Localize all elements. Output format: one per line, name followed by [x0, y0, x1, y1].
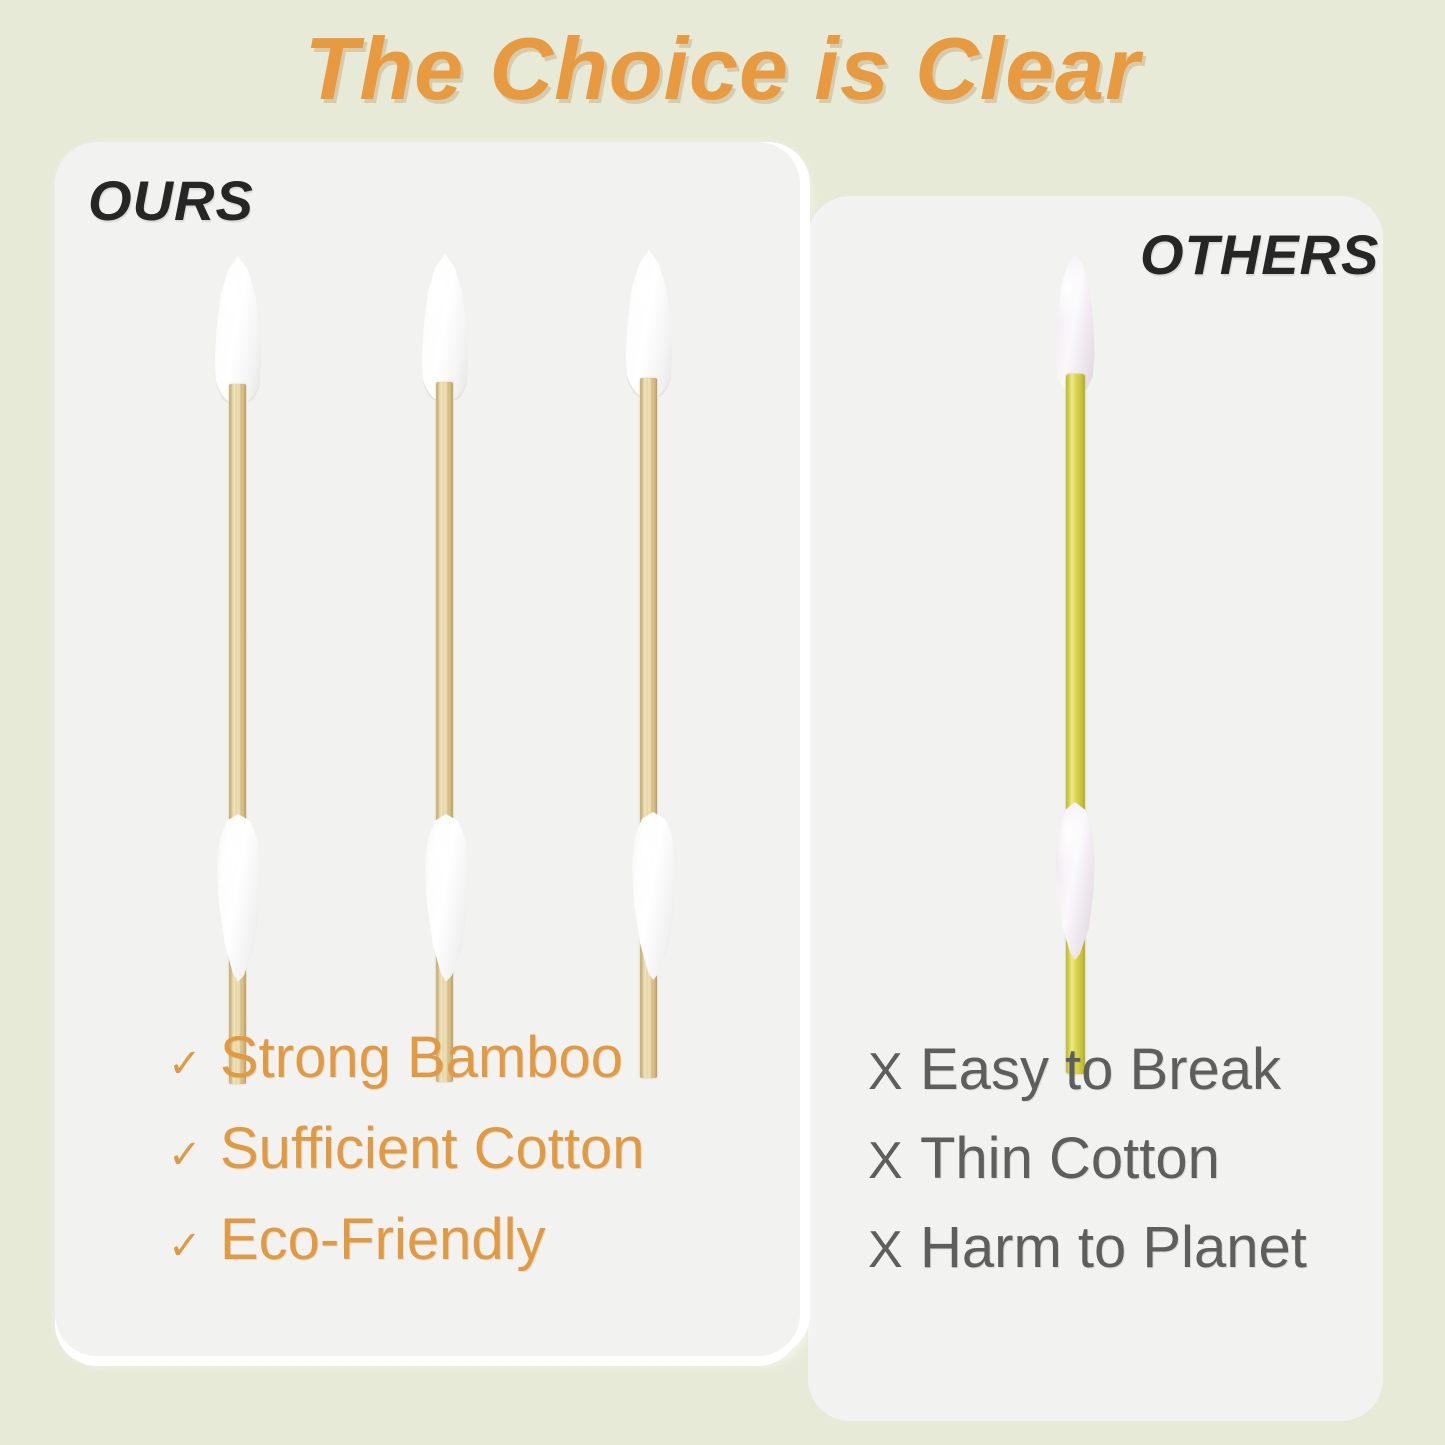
cotton-tip-top-icon: [211, 256, 265, 404]
cross-icon: X: [868, 1135, 920, 1187]
cotton-tip-bottom-icon: [628, 812, 678, 980]
cross-icon: X: [868, 1224, 920, 1276]
list-item: X Harm to Planet: [868, 1216, 1307, 1281]
ours-feature-list: ✓ Strong Bamboo ✓ Sufficient Cotton ✓ Ec…: [168, 1026, 645, 1299]
feature-label: Sufficient Cotton: [220, 1117, 645, 1182]
list-item: ✓ Strong Bamboo: [168, 1026, 645, 1091]
ours-panel-label: OURS: [88, 168, 254, 233]
check-icon: ✓: [168, 1044, 220, 1084]
cotton-tip-bottom-icon: [421, 814, 471, 982]
bamboo-swab-2: [418, 254, 472, 980]
list-item: X Easy to Break: [868, 1038, 1307, 1103]
others-panel-label: OTHERS: [1140, 222, 1379, 287]
bamboo-swab-3: [622, 250, 676, 976]
feature-label: Harm to Planet: [920, 1216, 1307, 1281]
plastic-swab-1: [1051, 254, 1099, 960]
feature-label: Thin Cotton: [920, 1127, 1220, 1192]
check-icon: ✓: [168, 1135, 220, 1175]
thin-cotton-tip-bottom-icon: [1052, 802, 1098, 960]
check-icon: ✓: [168, 1226, 220, 1266]
list-item: ✓ Eco-Friendly: [168, 1208, 645, 1273]
thin-cotton-tip-top-icon: [1051, 254, 1099, 392]
bamboo-swab-1: [211, 256, 265, 982]
feature-label: Strong Bamboo: [220, 1026, 623, 1091]
cotton-tip-top-icon: [622, 250, 676, 398]
others-feature-list: X Easy to Break X Thin Cotton X Harm to …: [868, 1038, 1307, 1305]
cotton-tip-top-icon: [418, 254, 472, 402]
cotton-tip-bottom-icon: [213, 814, 263, 982]
list-item: X Thin Cotton: [868, 1127, 1307, 1192]
cross-icon: X: [868, 1046, 920, 1098]
feature-label: Easy to Break: [920, 1038, 1281, 1103]
page-title: The Choice is Clear: [0, 18, 1445, 120]
feature-label: Eco-Friendly: [220, 1208, 546, 1273]
list-item: ✓ Sufficient Cotton: [168, 1117, 645, 1182]
plastic-stick: [1066, 374, 1085, 1074]
